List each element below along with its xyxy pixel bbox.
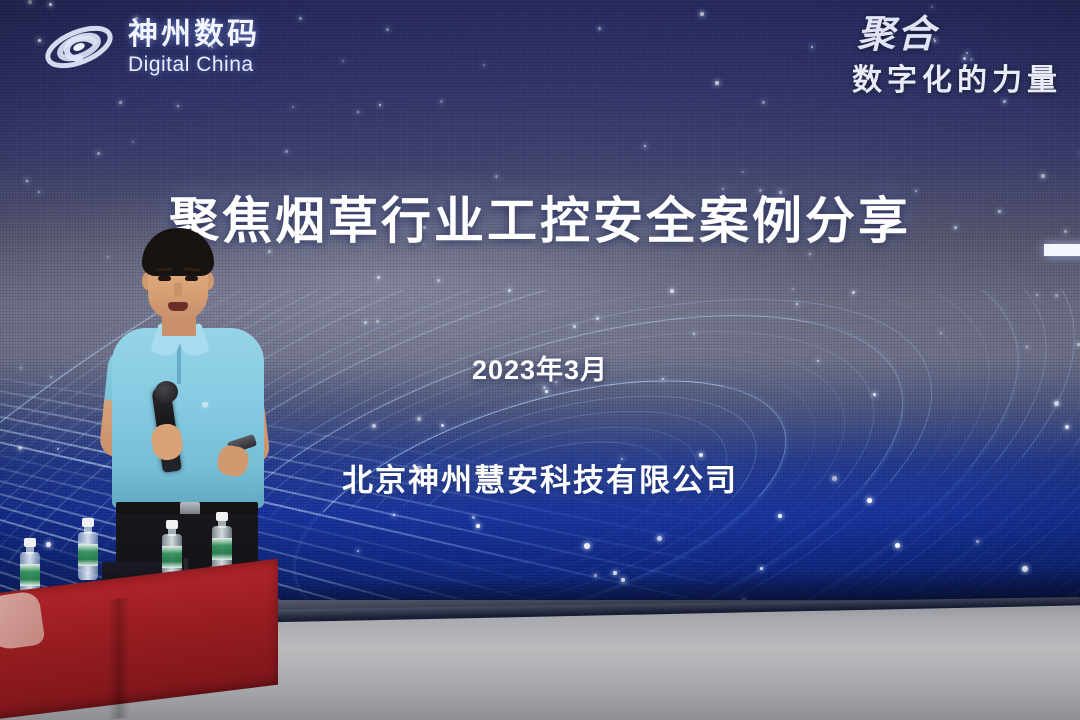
light-particle [483, 64, 485, 66]
light-particle [437, 279, 440, 282]
light-particle [1003, 100, 1006, 103]
light-particle [97, 152, 100, 155]
light-particle [852, 291, 855, 294]
bottle-label [78, 544, 98, 566]
light-particle [715, 81, 719, 85]
light-particle [18, 446, 22, 450]
swirl-arc [400, 417, 681, 591]
light-particle [132, 141, 134, 143]
light-particle [386, 28, 389, 31]
light-particle [657, 536, 662, 541]
light-particle [1065, 425, 1069, 429]
light-particle [49, 3, 52, 6]
light-particle [940, 332, 942, 334]
light-particle [292, 106, 294, 108]
slogan-block: 聚合 数字化的力量 [852, 16, 1062, 96]
light-particle [372, 424, 376, 428]
slogan-headline: 聚合 [852, 16, 937, 54]
light-particle [377, 276, 380, 279]
light-particle [613, 571, 617, 575]
light-particle [809, 253, 811, 255]
light-particle [364, 321, 367, 324]
bottle-label [162, 546, 182, 568]
title-bar-decoration-icon [1044, 244, 1080, 256]
light-particle [778, 514, 782, 518]
light-particle [573, 325, 576, 328]
light-particle [1055, 294, 1058, 297]
speaker-nose [174, 283, 182, 297]
speaker-hair [142, 228, 214, 276]
light-particle [177, 105, 179, 107]
light-particle [357, 111, 359, 113]
light-particle [57, 448, 59, 450]
stage-photo: 神州数码 Digital China 聚合 数字化的力量 聚焦烟草行业工控安全案… [0, 0, 1080, 720]
light-particle [792, 288, 794, 290]
speaker-eye-right [185, 276, 198, 281]
bottle-label [212, 538, 232, 560]
light-particle [1054, 401, 1059, 406]
light-particle [700, 12, 704, 16]
light-particle [376, 320, 379, 323]
light-particle [1022, 566, 1028, 572]
light-particle [1036, 294, 1038, 296]
light-particle [811, 46, 813, 48]
light-particle [28, 0, 32, 4]
light-particle [931, 6, 933, 8]
light-particle [342, 60, 344, 62]
bottle-label [20, 564, 40, 586]
light-particle [584, 543, 590, 549]
light-particle [1041, 174, 1045, 178]
spiral-galaxy-logo-icon [42, 16, 116, 78]
light-particle [508, 289, 511, 292]
light-particle [693, 333, 695, 335]
light-particle [644, 145, 646, 147]
brand-name-cn: 神州数码 [128, 20, 260, 50]
water-bottle [78, 518, 98, 580]
brand-logo: 神州数码 Digital China [42, 16, 260, 78]
light-particle [670, 289, 674, 293]
light-particle [119, 101, 122, 104]
light-particle [976, 540, 979, 543]
light-particle [472, 516, 475, 519]
light-particle [299, 17, 302, 20]
speaker-polo-shirt [112, 328, 264, 508]
light-particle [285, 150, 288, 153]
panel-table [0, 545, 290, 720]
light-particle [495, 175, 498, 178]
light-particle [357, 550, 359, 552]
light-particle [417, 417, 421, 421]
slogan-subline: 数字化的力量 [852, 66, 1062, 96]
light-particle [476, 524, 480, 528]
light-particle [621, 578, 625, 582]
light-particle [762, 101, 765, 104]
light-particle [760, 567, 763, 570]
brand-name-en: Digital China [128, 54, 260, 75]
light-particle [594, 574, 597, 577]
table-cloth-fold [108, 597, 130, 720]
speaker-shirt-emblem-icon: ✲ [192, 394, 218, 416]
light-particle [895, 543, 900, 548]
speaker-mouth [168, 302, 188, 311]
light-particle [393, 514, 395, 516]
light-particle [441, 424, 444, 427]
light-particle [440, 100, 443, 103]
light-particle [598, 27, 601, 30]
light-particle [38, 39, 41, 42]
light-particle [596, 317, 599, 320]
light-particle [796, 303, 798, 305]
light-particle [379, 104, 381, 106]
speaker-eye-left [158, 276, 171, 281]
light-particle [742, 171, 744, 173]
light-particle [545, 390, 548, 393]
swirl-arc [334, 374, 748, 634]
swirl-arc [367, 396, 715, 613]
light-particle [873, 393, 876, 396]
